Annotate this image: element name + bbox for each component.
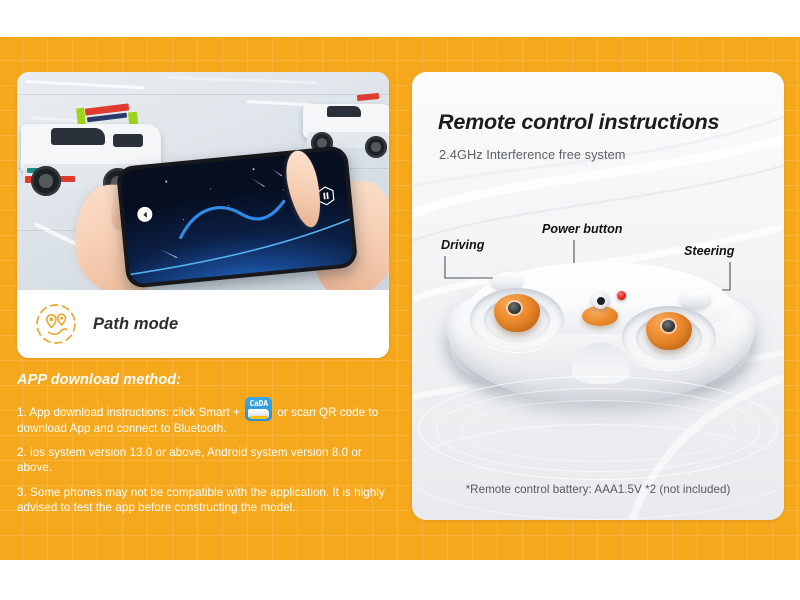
download-step-3: 3. Some phones may not be compatible wit… (17, 485, 389, 515)
cada-wordmark: CaDA (245, 399, 272, 408)
path-mode-caption: Path mode (17, 290, 389, 358)
power-button-base (582, 306, 618, 326)
car-wheel (365, 136, 387, 158)
phone-frame (116, 145, 359, 289)
cada-app-icon: CaDA (245, 397, 272, 421)
label-power-button: Power button (542, 222, 622, 236)
remote-control-card: Remote control instructions 2.4GHz Inter… (412, 72, 784, 520)
label-steering: Steering (684, 244, 734, 258)
car-windshield (327, 106, 361, 117)
path-mode-card: Path mode (17, 72, 389, 358)
download-step-1: 1. App download instructions: click Smar… (17, 397, 389, 436)
left-panel: Path mode APP download method: 1. App do… (17, 72, 389, 520)
car-wheel (31, 166, 61, 196)
steering-joystick-cap (662, 320, 675, 332)
app-download-title: APP download method: (17, 372, 389, 388)
gamepad-shoulder-right (680, 290, 710, 308)
product-manual-page: Path mode APP download method: 1. App do… (0, 0, 800, 600)
car-engine-vent (113, 134, 143, 147)
power-button-control[interactable] (592, 292, 609, 309)
path-mode-label: Path mode (93, 315, 178, 334)
cada-car-glyph (248, 409, 269, 418)
car-cockpit (51, 128, 105, 145)
car-accent (357, 93, 380, 101)
pedestal-ring (412, 424, 784, 520)
download-step-2: 2. ios system version 13.0 or above, And… (17, 445, 389, 475)
smartphone (116, 145, 359, 289)
download-step-1-part-a: 1. App download instructions: click Smar… (17, 406, 243, 419)
label-driving: Driving (441, 238, 484, 252)
display-pedestal (412, 372, 784, 520)
battery-footnote: *Remote control battery: AAA1.5V *2 (not… (412, 483, 784, 496)
back-arrow-icon (140, 210, 149, 219)
app-path-mode-photo (17, 72, 389, 290)
driving-joystick-cap (508, 302, 521, 314)
path-mode-map-pin-icon (35, 303, 77, 345)
power-led-indicator (617, 291, 626, 300)
app-download-block: APP download method: 1. App download ins… (17, 372, 389, 524)
